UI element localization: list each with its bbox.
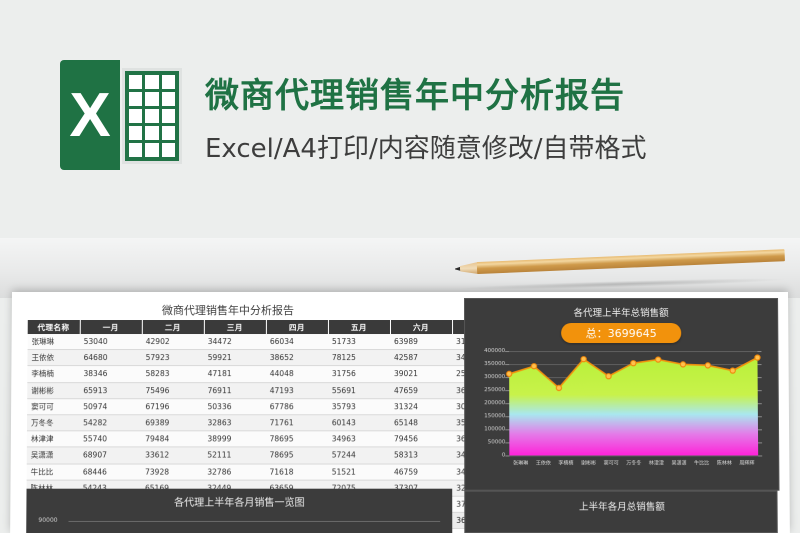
x-axis-tick-label: 万冬冬: [622, 459, 645, 471]
x-axis-tick-label: 牛比比: [690, 459, 713, 471]
table-row[interactable]: 王依依646805792359921386527812542587341888: [27, 350, 514, 366]
cell-value: 51733: [328, 334, 390, 350]
cell-value: 33612: [141, 447, 203, 463]
cell-value: 55740: [79, 431, 141, 447]
table-row[interactable]: 窦可可509746719650336677863579331324303409: [27, 398, 514, 414]
cell-value: 69389: [141, 415, 203, 431]
cell-value: 79484: [141, 431, 203, 447]
cell-value: 58283: [142, 366, 204, 382]
cell-value: 47659: [390, 382, 452, 398]
cell-value: 31324: [390, 398, 452, 414]
cell-value: 76911: [204, 382, 266, 398]
data-point[interactable]: [656, 357, 661, 362]
cell-value: 35793: [328, 398, 390, 414]
x-axis-tick-label: 吴潇潇: [668, 459, 691, 471]
x-axis-tick-label: 林津津: [645, 459, 668, 471]
cell-value: 38999: [203, 431, 265, 447]
data-point[interactable]: [507, 371, 512, 376]
cell-agent-name: 李楠楠: [27, 366, 79, 382]
cell-agent-name: 万冬冬: [27, 415, 79, 431]
cell-value: 54282: [79, 415, 141, 431]
report-title: 微商代理销售年中分析报告: [162, 302, 294, 318]
cell-value: 59921: [204, 350, 266, 366]
cell-value: 47193: [266, 382, 328, 398]
left-chart-title: 各代理上半年各月销售一览图: [26, 494, 452, 509]
table-header-5: 五月: [328, 320, 390, 334]
cell-agent-name: 王依依: [27, 350, 79, 366]
right-chart-title: 各代理上半年总销售额: [465, 305, 777, 319]
cell-value: 64680: [80, 350, 142, 366]
left-chart-gridline: [68, 521, 440, 522]
cell-value: 52111: [203, 447, 265, 463]
cell-value: 47181: [204, 366, 266, 382]
excel-logo-letter: X: [60, 60, 120, 170]
table-header-0: 代理名称: [28, 320, 80, 334]
banner-subtitle: Excel/A4打印/内容随意修改/自带格式: [205, 128, 646, 165]
data-point[interactable]: [581, 357, 586, 362]
cell-value: 58313: [390, 447, 452, 463]
table-header-2: 二月: [142, 320, 204, 334]
cell-value: 39021: [390, 366, 452, 382]
cell-value: 66034: [266, 334, 328, 350]
cell-value: 53040: [80, 334, 142, 350]
cell-value: 34472: [204, 334, 266, 350]
cell-agent-name: 吴潇潇: [27, 447, 79, 463]
cell-value: 50336: [204, 398, 266, 414]
cell-agent-name: 窦可可: [27, 398, 79, 414]
excel-logo: X: [60, 60, 185, 170]
table-header-6: 六月: [390, 320, 452, 334]
cell-value: 44048: [266, 366, 328, 382]
x-axis-tick-label: 李楠楠: [555, 459, 578, 471]
cell-value: 31756: [328, 366, 390, 382]
data-point[interactable]: [755, 355, 760, 360]
cell-agent-name: 林津津: [27, 431, 79, 447]
table-row[interactable]: 牛比比684467392832786716185152146759345058: [27, 464, 515, 480]
monthly-total-chart-title: 上半年各月总销售额: [465, 499, 778, 513]
cell-value: 63989: [390, 334, 452, 350]
pencil-wood: [460, 262, 478, 275]
cell-value: 67786: [266, 398, 328, 414]
cell-value: 42902: [142, 334, 204, 350]
excel-sheet-preview[interactable]: 微商代理销售年中分析报告 代理名称一月二月三月四月五月六月总计 张琳琳53040…: [10, 292, 790, 533]
monthly-total-chart-panel[interactable]: 上半年各月总销售额: [464, 491, 778, 533]
cell-value: 67196: [141, 398, 203, 414]
data-point[interactable]: [680, 362, 685, 367]
cell-agent-name: 张琳琳: [28, 334, 80, 350]
cell-value: 65913: [79, 382, 141, 398]
cell-value: 50974: [79, 398, 141, 414]
excel-logo-grid: [122, 68, 182, 164]
cell-agent-name: 牛比比: [27, 464, 79, 480]
promo-banner: X 微商代理销售年中分析报告 Excel/A4打印/内容随意修改/自带格式: [0, 0, 800, 238]
table-header-1: 一月: [80, 320, 142, 334]
cell-value: 65148: [390, 415, 452, 431]
cell-value: 38346: [79, 366, 141, 382]
cell-value: 78695: [266, 431, 328, 447]
cell-value: 34963: [328, 431, 390, 447]
data-point[interactable]: [705, 363, 710, 368]
data-point[interactable]: [631, 361, 636, 366]
left-chart-axis-label: 90000: [38, 517, 57, 524]
data-point[interactable]: [606, 374, 611, 379]
data-point[interactable]: [531, 364, 536, 369]
total-sales-badge: 总：3699645: [561, 323, 681, 343]
cell-value: 78125: [328, 350, 390, 366]
cell-value: 57244: [328, 447, 390, 463]
x-axis-tick-label: 周辉辉: [736, 459, 759, 471]
x-axis-tick-label: 窦可可: [600, 459, 623, 471]
cell-value: 46759: [390, 464, 452, 480]
cell-value: 71618: [265, 464, 327, 480]
cell-agent-name: 谢彬彬: [27, 382, 79, 398]
cell-value: 51521: [328, 464, 390, 480]
area-chart[interactable]: 0500001000001500002000002500003000003500…: [465, 347, 778, 490]
table-row[interactable]: 林津津557407948438999786953496379456367337: [27, 431, 515, 447]
table-row[interactable]: 万冬冬542826938932863717616014365148353586: [27, 415, 514, 431]
x-axis-tick-label: 张琳琳: [509, 459, 532, 471]
banner-title: 微商代理销售年中分析报告: [205, 68, 625, 117]
cell-value: 32786: [203, 464, 265, 480]
table-header-row: 代理名称一月二月三月四月五月六月总计: [28, 320, 514, 334]
x-axis-tick-label: 谢彬彬: [577, 459, 600, 471]
x-axis-labels: 张琳琳王依依李楠楠谢彬彬窦可可万冬冬林津津吴潇潇牛比比陈林林周辉辉: [509, 459, 758, 471]
cell-value: 38652: [266, 350, 328, 366]
cell-value: 57923: [142, 350, 204, 366]
table-row[interactable]: 李楠楠383465828347181440483175639021258635: [27, 366, 514, 382]
table-row[interactable]: 张琳琳530404290234472660345173363989312170: [28, 334, 515, 350]
table-header-3: 三月: [204, 320, 266, 334]
cell-value: 68446: [79, 464, 141, 480]
desk-surface: [0, 238, 800, 298]
cell-value: 75496: [141, 382, 203, 398]
x-axis-tick-label: 陈林林: [713, 459, 736, 471]
cell-value: 55691: [328, 382, 390, 398]
table-header-4: 四月: [266, 320, 328, 334]
cell-value: 78695: [266, 447, 328, 463]
cell-value: 42587: [390, 350, 452, 366]
cell-value: 79456: [390, 431, 452, 447]
table-row[interactable]: 吴潇潇689073361252111786955724458313348882: [27, 447, 515, 463]
data-point[interactable]: [730, 368, 735, 373]
x-axis-tick-label: 王依依: [532, 459, 555, 471]
cell-value: 68907: [79, 447, 141, 463]
cell-value: 73928: [141, 464, 203, 480]
data-point[interactable]: [556, 385, 561, 390]
cell-value: 32863: [203, 415, 265, 431]
total-sales-chart-panel[interactable]: 各代理上半年总销售额 总：3699645 0500001000001500002…: [464, 298, 779, 491]
left-chart-panel[interactable]: 各代理上半年各月销售一览图 90000: [26, 489, 452, 533]
cell-value: 60143: [328, 415, 390, 431]
cell-value: 71761: [266, 415, 328, 431]
table-row[interactable]: 谢彬彬659137549676911471935569147659368863: [27, 382, 514, 398]
